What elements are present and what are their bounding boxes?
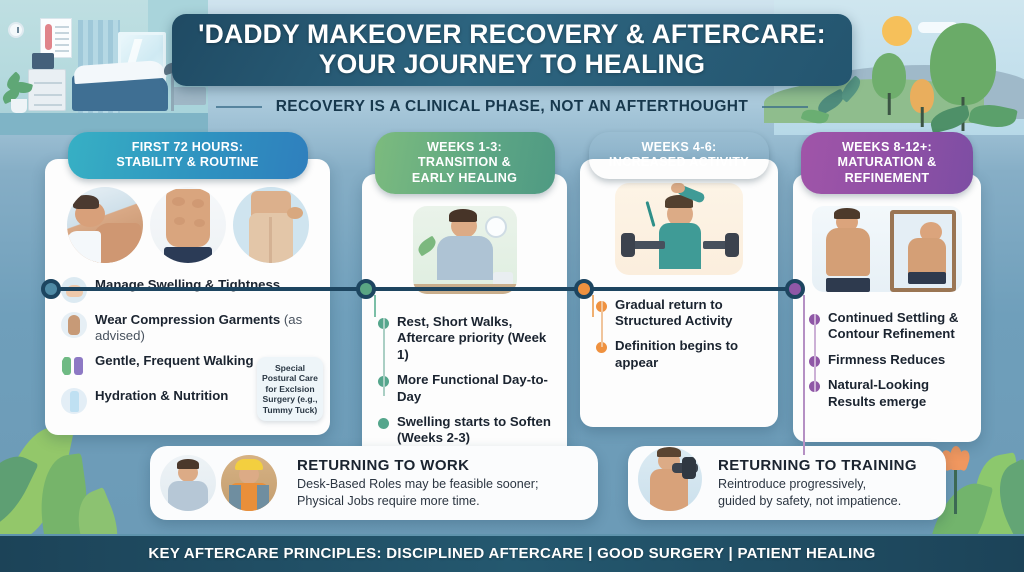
timeline-drop-3 (592, 295, 594, 317)
phase-bullet-list-4: Continued Settling & Contour Refinement … (803, 310, 971, 410)
timeline-drop-2 (374, 295, 376, 317)
man-resting-in-bed-photo (67, 187, 143, 263)
bird-icon (902, 66, 914, 74)
list-item: Definition begins to appear (596, 338, 768, 371)
card-line-2: Physical Jobs require more time. (297, 493, 539, 509)
footer-text: KEY AFTERCARE PRINCIPLES: DISCIPLINED AF… (148, 545, 875, 562)
phase-title-line-1: WEEKS 4-6: (641, 140, 716, 154)
phase-bullet-list-2: Rest, Short Walks, Aftercare priority (W… (372, 314, 557, 447)
title-banner: 'DADDY MAKEOVER RECOVERY & AFTERCARE: YO… (172, 14, 852, 86)
card-heading: RETURNING TO TRAINING (718, 457, 917, 474)
card-photo-row (160, 455, 277, 511)
phase-header-weeks-4-6: WEEKS 4-6: INCREASED ACTIVITY (589, 132, 769, 179)
bullet-text: Hydration & Nutrition (95, 388, 228, 404)
bullet-text: Firmness Reduces (828, 352, 945, 368)
card-returning-to-training: RETURNING TO TRAINING Reintroduce progre… (628, 446, 946, 520)
man-stretching-with-dumbbells-photo (615, 183, 743, 275)
bullet-text: Wear Compression Garments (as advised) (95, 312, 320, 345)
page-title: 'DADDY MAKEOVER RECOVERY & AFTERCARE: YO… (198, 20, 826, 79)
phase-photo-row (55, 187, 320, 263)
title-line-2: YOUR JOURNEY TO HEALING (319, 49, 705, 79)
phase-header-weeks-8-12-plus: WEEKS 8-12+: MATURATION & REFINEMENT (801, 132, 973, 194)
footer-bar: KEY AFTERCARE PRINCIPLES: DISCIPLINED AF… (0, 534, 1024, 572)
title-line-1: 'DADDY MAKEOVER RECOVERY & AFTERCARE: (198, 19, 826, 49)
list-item: Continued Settling & Contour Refinement (809, 310, 971, 343)
bullet-text: Gentle, Frequent Walking (95, 353, 254, 369)
phase-title-line-3: REFINEMENT (845, 171, 930, 185)
water-bottle-icon (61, 388, 87, 414)
phase-card-weeks-4-6: Gradual return to Structured Activity De… (580, 159, 778, 427)
phase-photo-row (372, 206, 557, 294)
bullet-text: Gradual return to Structured Activity (615, 297, 768, 330)
upward-arrow-icon (645, 201, 655, 227)
infographic-canvas: 'DADDY MAKEOVER RECOVERY & AFTERCARE: YO… (0, 0, 1024, 572)
phase-title-line-1: WEEKS 1-3: (427, 140, 502, 154)
bullet-text: Natural-Looking Results emerge (828, 377, 971, 410)
cabinet-icon (28, 69, 66, 111)
compression-garment-photo (233, 187, 309, 263)
card-text-block: RETURNING TO TRAINING Reintroduce progre… (718, 457, 917, 508)
list-item: Gradual return to Structured Activity (596, 297, 768, 330)
phase-title-line-2: TRANSITION & (418, 155, 511, 169)
phase-columns: FIRST 72 HOURS: STABILITY & ROUTINE (0, 132, 1024, 432)
list-item: More Functional Day-to-Day (378, 372, 557, 405)
card-line-1: Desk-Based Roles may be feasible sooner; (297, 476, 539, 492)
phase-header-first-72-hours: FIRST 72 HOURS: STABILITY & ROUTINE (68, 132, 308, 179)
exam-bed-icon (72, 75, 168, 111)
timeline-track (44, 287, 804, 291)
compression-vest-icon (61, 312, 87, 338)
man-in-mirror-photo (812, 206, 962, 292)
monitor-icon (32, 53, 54, 69)
tree-icon (930, 23, 996, 105)
phase-header-weeks-1-3: WEEKS 1-3: TRANSITION & EARLY HEALING (375, 132, 555, 194)
timeline-drop-4 (803, 295, 805, 455)
divider-dash-right (762, 106, 808, 108)
man-writing-at-desk-photo (413, 206, 517, 294)
subtitle-row: RECOVERY IS A CLINICAL PHASE, NOT AN AFT… (172, 94, 852, 120)
page-subtitle: RECOVERY IS A CLINICAL PHASE, NOT AN AFT… (276, 98, 749, 116)
card-photo-row (638, 455, 702, 511)
phase-bullet-list-3: Gradual return to Structured Activity De… (590, 297, 768, 371)
list-item: Rest, Short Walks, Aftercare priority (W… (378, 314, 557, 363)
list-item: Natural-Looking Results emerge (809, 377, 971, 410)
card-returning-to-work: RETURNING TO WORK Desk-Based Roles may b… (150, 446, 598, 520)
phase-title-line-1: WEEKS 8-12+: (842, 140, 932, 154)
bullet-text: Rest, Short Walks, Aftercare priority (W… (397, 314, 557, 363)
phase-photo-row (590, 183, 768, 275)
sun-icon (882, 16, 912, 46)
phase-title-line-3: EARLY HEALING (412, 171, 517, 185)
divider-dash-left (216, 106, 262, 108)
phase-column-first-72-hours: FIRST 72 HOURS: STABILITY & ROUTINE (45, 132, 330, 435)
bullet-dot (378, 418, 389, 429)
walking-people-icon (61, 353, 87, 379)
tree-icon (872, 53, 906, 99)
list-item: Wear Compression Garments (as advised) (61, 312, 320, 345)
phase-photo-row (803, 206, 971, 292)
bruised-torso-photo (150, 187, 226, 263)
phase-card-weeks-1-3: Rest, Short Walks, Aftercare priority (W… (362, 174, 567, 468)
phase-title-line-2: MATURATION & (838, 155, 937, 169)
bullet-text: More Functional Day-to-Day (397, 372, 557, 405)
timeline-node-phase-1[interactable] (41, 279, 61, 299)
list-item: Swelling starts to Soften (Weeks 2-3) (378, 414, 557, 447)
phase-card-weeks-8-12-plus: Continued Settling & Contour Refinement … (793, 174, 981, 442)
card-text-block: RETURNING TO WORK Desk-Based Roles may b… (297, 457, 539, 508)
card-line-2: guided by safety, not impatience. (718, 493, 917, 509)
timeline-node-phase-2[interactable] (356, 279, 376, 299)
timeline-node-phase-3[interactable] (574, 279, 594, 299)
construction-worker-photo (221, 455, 277, 511)
phase-column-weeks-1-3: WEEKS 1-3: TRANSITION & EARLY HEALING (362, 132, 567, 468)
phase-title-line-2: INCREASED ACTIVITY (609, 155, 749, 169)
office-worker-photo (160, 455, 216, 511)
phase-column-weeks-8-12-plus: WEEKS 8-12+: MATURATION & REFINEMENT (793, 132, 981, 442)
card-line-1: Reintroduce progressively, (718, 476, 917, 492)
phase-card-first-72-hours: Manage Swelling & Tightness Wear Compres… (45, 159, 330, 436)
anatomy-chart-icon (40, 18, 72, 58)
bullet-text: Continued Settling & Contour Refinement (828, 310, 971, 343)
tree-icon (910, 79, 934, 113)
bullet-text: Swelling starts to Soften (Weeks 2-3) (397, 414, 557, 447)
bullet-text: Definition begins to appear (615, 338, 768, 371)
timeline-node-phase-4[interactable] (785, 279, 805, 299)
potted-plant-icon (2, 69, 36, 113)
list-item: Firmness Reduces (809, 352, 971, 368)
card-heading: RETURNING TO WORK (297, 457, 539, 474)
phase-column-weeks-4-6: WEEKS 4-6: INCREASED ACTIVITY (580, 132, 778, 427)
phase-title-line-1: FIRST 72 HOURS: (132, 140, 244, 154)
special-care-badge: Special Postural Care for Exclsion Surge… (257, 357, 323, 422)
man-lifting-dumbbell-photo (638, 447, 702, 511)
wall-clock-icon (8, 22, 24, 38)
phase-title-line-2: STABILITY & ROUTINE (116, 155, 258, 169)
